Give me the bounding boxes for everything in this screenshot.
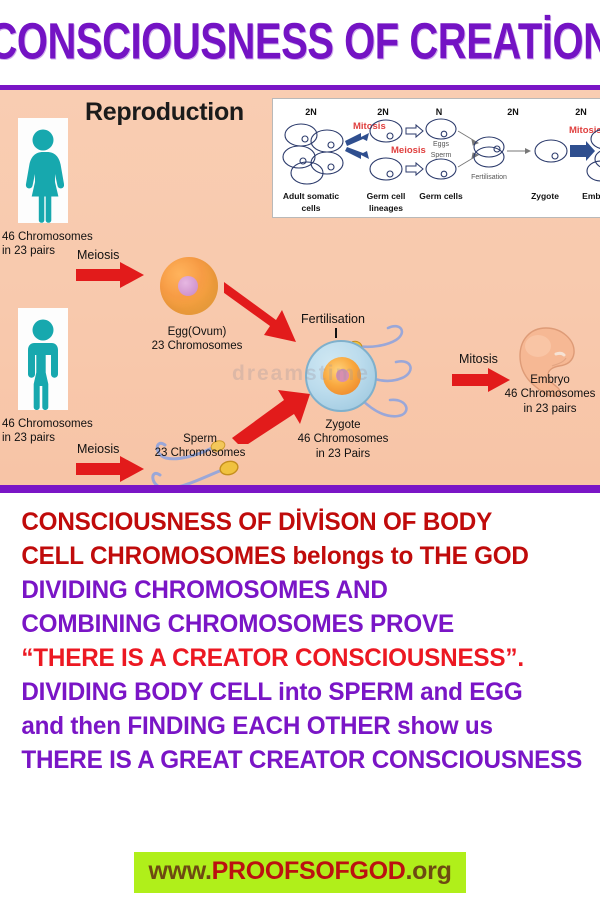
- page-title: CONSCIOUSNESS OF CREATİON: [0, 14, 600, 72]
- male-meiosis-arrow-icon: [76, 456, 148, 482]
- message-line-5: “THERE IS A CREATOR CONSCIOUSNESS”.: [0, 641, 582, 675]
- message-block: CONSCIOUSNESS OF DİVİSON OF BODY CELL CH…: [0, 493, 600, 777]
- egg-cell-icon: [160, 257, 218, 315]
- inset-somatic-cells: [283, 124, 343, 184]
- fertilisation-pointer: [335, 328, 337, 338]
- reproduction-diagram-panel: Reproduction 46 Chromosomes in 23 pairs …: [0, 85, 600, 493]
- website-prefix: www.: [148, 857, 211, 885]
- inset-svg: 2N 2N N 2N 2N Mitosis: [273, 99, 600, 218]
- diagram-background: Reproduction 46 Chromosomes in 23 pairs …: [0, 90, 600, 485]
- zygote-label: Zygote 46 Chromosomes in 23 Pairs: [287, 418, 399, 461]
- website-suffix: .org: [406, 857, 452, 885]
- page-title-bar: CONSCIOUSNESS OF CREATİON: [0, 0, 600, 85]
- website-banner[interactable]: www.PROOFSOFGOD.org: [134, 852, 465, 893]
- inset-process-meiosis: Meiosis: [391, 145, 426, 156]
- message-line-3: DIVIDING CHROMOSOMES AND: [0, 573, 582, 607]
- egg-nucleus-icon: [178, 276, 198, 296]
- inset-stage-3: Zygote: [531, 191, 559, 201]
- inset-arrow-down: [345, 147, 369, 159]
- inset-ploidy-4: 2N: [575, 107, 587, 117]
- message-line-7: and then FINDING EACH OTHER show us: [0, 709, 582, 743]
- inset-zygote-cell: [535, 140, 567, 162]
- female-person-icon: [22, 127, 64, 223]
- mitosis-label: Mitosis: [459, 352, 498, 366]
- inset-fertilisation-label: Fertilisation: [471, 174, 507, 181]
- inset-stage-4: Embryo: [582, 191, 600, 201]
- inset-stage-1-line1: Germ cell: [367, 191, 406, 201]
- message-line-4: COMBINING CHROMOSOMES PROVE: [0, 607, 582, 641]
- zygote-cell-icon: [305, 340, 377, 412]
- inset-gamete-eggs: Eggs: [433, 141, 449, 148]
- egg-to-zygote-arrow-icon: [224, 280, 310, 354]
- mitosis-meiosis-inset-diagram: 2N 2N N 2N 2N Mitosis: [272, 98, 600, 218]
- zygote-core-icon: [323, 357, 361, 395]
- inset-stage-2: Germ cells: [419, 191, 463, 201]
- diagram-heading: Reproduction: [85, 98, 244, 127]
- message-line-6: DIVIDING BODY CELL into SPERM and EGG: [0, 675, 582, 709]
- fertilisation-label: Fertilisation: [301, 312, 365, 326]
- inset-zygote-arrowhead: [525, 148, 531, 154]
- inset-stage-0-line2: cells: [302, 203, 321, 213]
- inset-stage-0-line1: Adult somatic: [283, 191, 339, 201]
- footer-wrapper: www.PROOFSOFGOD.org: [0, 852, 600, 893]
- male-person-card: [18, 308, 68, 410]
- inset-ploidy-1: 2N: [377, 107, 389, 117]
- inset-process-mitosis-1: Mitosis: [353, 121, 386, 132]
- zygote-nucleus-icon: [336, 369, 349, 382]
- message-line-8: THERE IS A GREAT CREATOR CONSCIOUSNESS: [0, 743, 582, 777]
- inset-ploidy-0: 2N: [305, 107, 317, 117]
- message-line-2: CELL CHROMOSOMES belongs to THE GOD: [0, 539, 582, 573]
- female-person-card: [18, 118, 68, 223]
- embryo-label: Embryo 46 Chromosomes in 23 pairs: [500, 373, 600, 416]
- website-domain: PROOFSOFGOD: [212, 857, 406, 885]
- inset-ploidy-2: N: [436, 107, 443, 117]
- message-line-1: CONSCIOUSNESS OF DİVİSON OF BODY: [0, 505, 582, 539]
- male-chromosome-label: 46 Chromosomes in 23 pairs: [2, 417, 112, 445]
- inset-process-mitosis-2: Mitosis: [569, 125, 600, 136]
- inset-stage-1-line2: lineages: [369, 203, 403, 213]
- male-person-icon: [22, 318, 64, 410]
- inset-gamete-sperm: Sperm: [431, 152, 452, 159]
- male-meiosis-label: Meiosis: [77, 442, 119, 456]
- female-meiosis-arrow-icon: [76, 262, 148, 288]
- inset-ploidy-3: 2N: [507, 107, 519, 117]
- inset-embryo-arrow: [570, 141, 595, 161]
- female-meiosis-label: Meiosis: [77, 248, 119, 262]
- inset-arrow-up: [345, 133, 369, 146]
- inset-fertilisation-cell: [474, 137, 504, 167]
- inset-germ-cells: [426, 119, 456, 179]
